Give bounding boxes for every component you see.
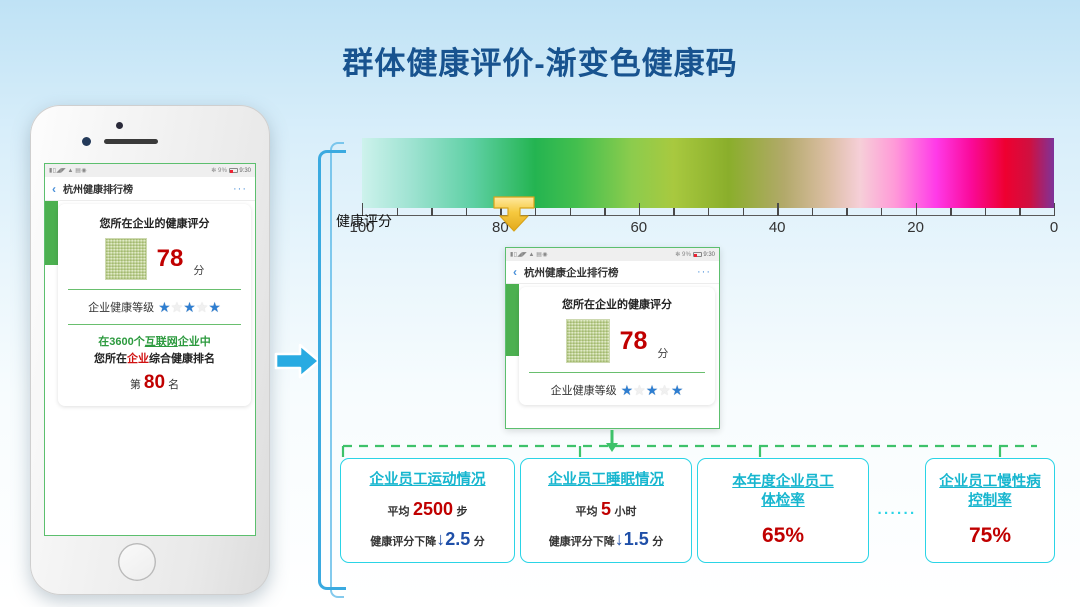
green-accent-strip: [45, 201, 58, 265]
health-level-row: 企业健康等级 ★ ★ ★ ★ ★: [66, 299, 243, 315]
avg-label: 平均: [576, 506, 598, 518]
rank2-highlight: 企业: [127, 353, 149, 365]
rank-line-1: 在3600个互联网企业中: [66, 334, 243, 351]
star-icon-empty: ★: [658, 383, 671, 397]
metric-card-sleep[interactable]: 企业员工睡眠情况 平均 5 小时 健康评分下降↓1.5 分: [520, 458, 692, 563]
metric-card-exercise[interactable]: 企业员工运动情况 平均 2500 步 健康评分下降↓2.5 分: [340, 458, 515, 563]
axis-tick-minor: [846, 208, 847, 216]
status-clock: 9:30: [703, 252, 715, 258]
battery-percent-label: 9%: [682, 252, 691, 258]
metric-card-title: 企业员工慢性病 控制率: [939, 473, 1041, 509]
metric-row-average: 平均 5 小时: [576, 499, 637, 520]
drop-value: 1.5: [624, 529, 649, 549]
sim-icon: ▤◉: [536, 252, 548, 258]
axis-tick-label: 0: [1050, 219, 1058, 236]
health-score-card: 您所在企业的健康评分 78 分 企业健康等级 ★ ★ ★ ★ ★: [519, 287, 715, 405]
star-icon-filled: ★: [621, 383, 634, 397]
metric-card-title: 企业员工睡眠情况: [548, 471, 664, 489]
battery-percent-label: 9%: [218, 168, 227, 174]
axis-tick-minor: [881, 208, 882, 216]
rank-line-2: 您所在企业综合健康排名: [66, 351, 243, 368]
page-title: 群体健康评价-渐变色健康码: [0, 38, 1080, 83]
metric-card-chronic[interactable]: 企业员工慢性病 控制率 75%: [925, 458, 1055, 563]
score-heading: 您所在企业的健康评分: [66, 215, 243, 231]
score-value: 78: [157, 247, 184, 271]
metric-title-line2: 体检率: [761, 493, 805, 509]
axis-tick-major: [639, 203, 640, 216]
rank-suffix: 企业中: [178, 336, 211, 348]
divider: [529, 372, 705, 373]
down-arrow-marker-icon[interactable]: [491, 196, 537, 232]
more-cards-ellipsis: ······: [872, 505, 922, 522]
nav-bar: ‹ 杭州健康企业排行榜 ···: [506, 261, 719, 284]
axis-tick-major: [1054, 203, 1055, 216]
drop-unit: 分: [652, 536, 663, 548]
avg-unit: 小时: [614, 506, 636, 518]
star-icon-empty: ★: [196, 300, 209, 314]
axis-tick-label: 40: [769, 219, 786, 236]
axis-tick-minor: [708, 208, 709, 216]
axis-tick-minor: [431, 208, 432, 216]
health-gradient-scale: 100806040200: [362, 138, 1054, 243]
score-row: 78 分: [527, 319, 707, 363]
metric-card-title: 本年度企业员工 体检率: [732, 473, 834, 509]
rank2-prefix: 您所在: [94, 353, 127, 365]
metric-title-line1: 企业员工慢性病: [939, 474, 1041, 490]
wifi-icon: ▲: [68, 168, 74, 174]
star-icon-filled: ★: [646, 383, 659, 397]
bluetooth-icon: ✻: [211, 168, 216, 174]
star-icon-filled: ★: [671, 383, 684, 397]
battery-icon: [229, 168, 238, 173]
score-unit: 分: [193, 262, 204, 278]
axis-tick-minor: [950, 208, 951, 216]
signal-icon: ▮▯◢◤: [49, 168, 66, 174]
nav-title: 杭州健康企业排行榜: [524, 265, 619, 280]
axis-tick-label: 20: [907, 219, 924, 236]
axis-tick-minor: [604, 208, 605, 216]
axis-tick-minor: [812, 208, 813, 216]
nav-bar: ‹ 杭州健康排行榜 ···: [45, 177, 255, 201]
rank-position-value: 80: [144, 372, 165, 393]
status-right-icons: ✻ 9% 9:30: [675, 252, 715, 258]
axis-tick-minor: [570, 208, 571, 216]
axis-tick-minor: [397, 208, 398, 216]
down-arrow-icon: ↓: [615, 529, 624, 549]
axis-tick-minor: [743, 208, 744, 216]
drop-unit: 分: [474, 536, 485, 548]
metric-card-title: 企业员工运动情况: [370, 471, 486, 489]
rank-line-3: 第 80 名: [66, 368, 243, 397]
avg-label: 平均: [387, 506, 409, 518]
phone-mockup-center: ▮▯◢◤ ▲ ▤◉ ✻ 9% 9:30 ‹ 杭州健康企业排行榜 ··· 您所在企…: [505, 247, 720, 429]
scale-axis-label: 健康评分: [336, 211, 392, 231]
rank-industry: 互联网: [145, 336, 178, 348]
metric-title-line2: 控制率: [968, 493, 1012, 509]
star-icon-filled: ★: [158, 300, 171, 314]
gradient-color-bar: [362, 138, 1054, 208]
scale-axis: [362, 208, 1054, 216]
star-rating: ★ ★ ★ ★ ★: [621, 383, 684, 397]
star-icon-empty: ★: [633, 383, 646, 397]
drop-label: 健康评分下降: [549, 536, 615, 548]
axis-tick-major: [777, 203, 778, 216]
speaker-grille-icon: [104, 139, 158, 144]
blue-right-arrow-icon: [274, 341, 322, 381]
axis-tick-label: 60: [630, 219, 647, 236]
status-bar: ▮▯◢◤ ▲ ▤◉ ✻ 9% 9:30: [45, 164, 255, 177]
home-button[interactable]: [118, 543, 156, 581]
metric-row-drop: 健康评分下降↓2.5 分: [370, 529, 485, 550]
qr-code-icon[interactable]: [105, 238, 147, 280]
status-left-icons: ▮▯◢◤ ▲ ▤◉: [49, 168, 87, 174]
star-icon-filled: ★: [183, 300, 196, 314]
axis-tick-minor: [985, 208, 986, 216]
star-icon-filled: ★: [208, 300, 221, 314]
phone-left-screen: ▮▯◢◤ ▲ ▤◉ ✻ 9% 9:30 ‹ 杭州健康排行榜 ··· 您所在企业的…: [44, 163, 256, 536]
status-bar: ▮▯◢◤ ▲ ▤◉ ✻ 9% 9:30: [506, 248, 719, 261]
score-heading: 您所在企业的健康评分: [527, 296, 707, 312]
score-unit: 分: [657, 345, 668, 361]
front-camera-icon: [116, 122, 123, 129]
green-accent-strip: [506, 284, 519, 356]
avg-value: 2500: [413, 499, 453, 519]
status-left-icons: ▮▯◢◤ ▲ ▤◉: [510, 252, 548, 258]
scale-tick-labels: 100806040200: [362, 219, 1054, 243]
status-clock: 9:30: [239, 168, 251, 174]
rank3-suffix: 名: [168, 379, 179, 391]
wifi-icon: ▲: [529, 252, 535, 258]
divider: [68, 324, 241, 325]
rank-company-count: 3600: [109, 336, 133, 348]
health-level-row: 企业健康等级 ★ ★ ★ ★ ★: [527, 382, 707, 398]
phone-mockup-left: ▮▯◢◤ ▲ ▤◉ ✻ 9% 9:30 ‹ 杭州健康排行榜 ··· 您所在企业的…: [30, 105, 270, 595]
chevron-left-icon[interactable]: ‹: [513, 265, 517, 279]
drop-label: 健康评分下降: [370, 536, 436, 548]
score-value: 78: [620, 329, 648, 354]
axis-tick-minor: [466, 208, 467, 216]
metric-title-line1: 本年度企业员工: [732, 474, 834, 490]
down-arrow-icon: ↓: [436, 529, 445, 549]
status-right-icons: ✻ 9% 9:30: [211, 168, 251, 174]
rank3-prefix: 第: [130, 379, 141, 391]
signal-icon: ▮▯◢◤: [510, 252, 527, 258]
health-level-label: 企业健康等级: [551, 382, 617, 398]
sensor-icon: [82, 137, 91, 146]
more-dots-icon[interactable]: ···: [233, 183, 247, 195]
metric-percent-value: 75%: [969, 524, 1011, 548]
avg-unit: 步: [457, 506, 468, 518]
avg-value: 5: [601, 499, 611, 519]
axis-tick-major: [916, 203, 917, 216]
health-score-card: 您所在企业的健康评分 78 分 企业健康等级 ★ ★ ★ ★ ★: [58, 204, 251, 406]
metric-row-average: 平均 2500 步: [387, 499, 467, 520]
sim-icon: ▤◉: [75, 168, 87, 174]
star-icon-empty: ★: [171, 300, 184, 314]
nav-title: 杭州健康排行榜: [63, 181, 133, 196]
rank-block: 在3600个互联网企业中 您所在企业综合健康排名 第 80 名: [66, 334, 243, 398]
rank2-suffix: 综合健康排名: [149, 353, 215, 365]
rank-prefix: 在: [98, 336, 109, 348]
metric-percent-value: 65%: [762, 524, 804, 548]
bluetooth-icon: ✻: [675, 252, 680, 258]
metric-row-drop: 健康评分下降↓1.5 分: [549, 529, 664, 550]
phone-center-screen: ▮▯◢◤ ▲ ▤◉ ✻ 9% 9:30 ‹ 杭州健康企业排行榜 ··· 您所在企…: [505, 247, 720, 429]
rank-unit: 个: [134, 336, 145, 348]
drop-value: 2.5: [445, 529, 470, 549]
more-dots-icon[interactable]: ···: [697, 266, 711, 278]
health-level-label: 企业健康等级: [88, 299, 154, 315]
star-rating: ★ ★ ★ ★ ★: [158, 300, 221, 314]
battery-icon: [693, 252, 702, 257]
chevron-left-icon[interactable]: ‹: [52, 182, 56, 196]
score-row: 78 分: [66, 238, 243, 280]
qr-code-icon[interactable]: [566, 319, 610, 363]
axis-tick-minor: [1019, 208, 1020, 216]
metric-card-checkup[interactable]: 本年度企业员工 体检率 65%: [697, 458, 869, 563]
axis-tick-minor: [673, 208, 674, 216]
divider: [68, 289, 241, 290]
